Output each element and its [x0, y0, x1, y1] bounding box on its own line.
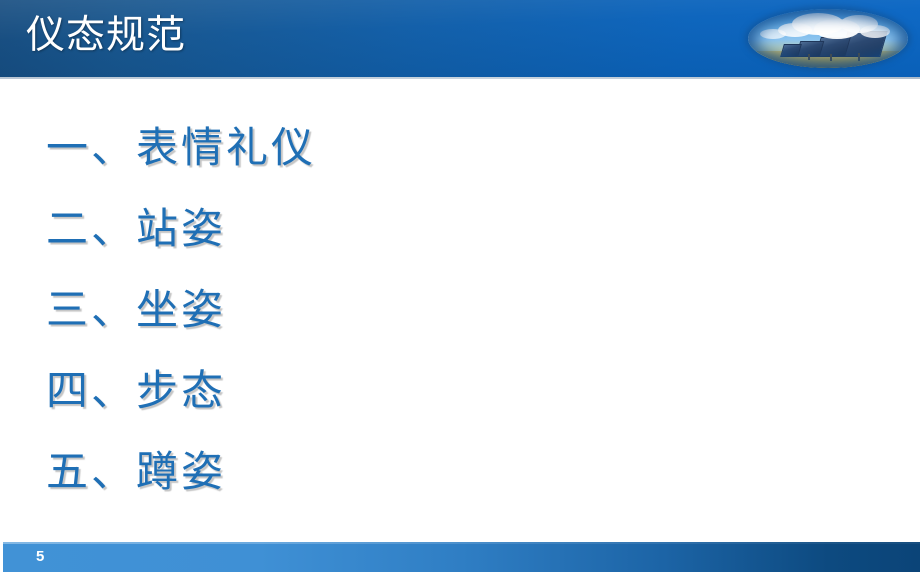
photo-panel-post: [808, 54, 810, 60]
slide-header-bar: 仪态规范: [0, 0, 920, 77]
page-number: 5: [36, 548, 44, 566]
agenda-item-4[interactable]: 四、步态: [46, 350, 316, 431]
agenda-item-1[interactable]: 一、表情礼仪: [46, 107, 316, 188]
slide-body: 一、表情礼仪 二、站姿 三、坐姿 四、步态 五、蹲姿: [0, 77, 920, 542]
solar-panel-photo-icon: [748, 9, 908, 68]
photo-solar-panel: [780, 44, 802, 57]
photo-cloud: [860, 25, 890, 38]
agenda-item-3[interactable]: 三、坐姿: [46, 269, 316, 350]
agenda-list: 一、表情礼仪 二、站姿 三、坐姿 四、步态 五、蹲姿: [46, 107, 316, 512]
photo-panel-post: [858, 53, 860, 61]
slide-title: 仪态规范: [26, 8, 186, 64]
agenda-item-2[interactable]: 二、站姿: [46, 188, 316, 269]
slide-footer-bar: 5: [3, 542, 920, 572]
photo-panel-post: [830, 54, 832, 61]
presentation-slide: 仪态规范 一、表情礼仪 二、站姿 三、坐姿 四、步态 五、蹲姿: [0, 0, 920, 575]
footer-highlight-line: [3, 542, 920, 544]
agenda-item-5[interactable]: 五、蹲姿: [46, 431, 316, 512]
